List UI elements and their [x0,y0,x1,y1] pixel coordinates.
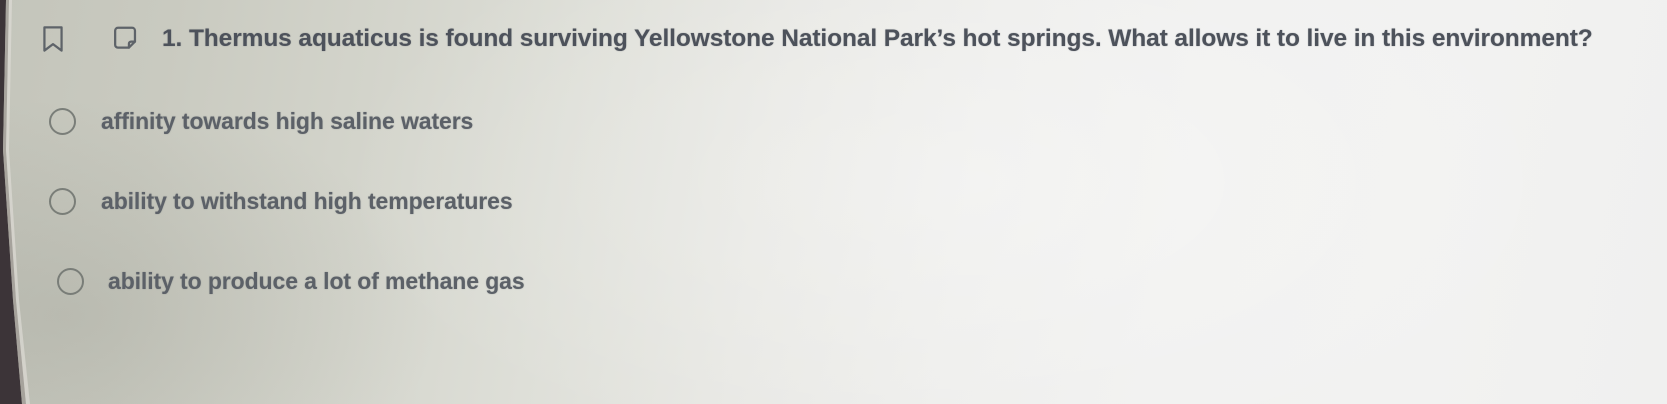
radio-button-3[interactable] [57,268,84,295]
answer-option-3[interactable]: ability to produce a lot of methane gas [0,258,1667,304]
note-icon [113,25,141,53]
question-row: 1. Thermus aquaticus is found surviving … [36,22,1647,56]
answer-options-list: affinity towards high saline waters abil… [0,98,1667,338]
radio-button-1[interactable] [49,108,76,135]
bookmark-icon [40,24,66,54]
answer-option-2[interactable]: ability to withstand high temperatures [0,178,1667,224]
note-button[interactable] [110,22,144,56]
question-text: 1. Thermus aquaticus is found surviving … [162,25,1593,53]
bookmark-button[interactable] [36,22,70,56]
answer-option-1[interactable]: affinity towards high saline waters [0,98,1667,144]
answer-option-2-label: ability to withstand high temperatures [101,188,513,215]
quiz-screen: 1. Thermus aquaticus is found surviving … [0,0,1667,404]
answer-option-1-label: affinity towards high saline waters [101,108,473,135]
answer-option-3-label: ability to produce a lot of methane gas [108,268,525,295]
radio-button-2[interactable] [49,188,76,215]
